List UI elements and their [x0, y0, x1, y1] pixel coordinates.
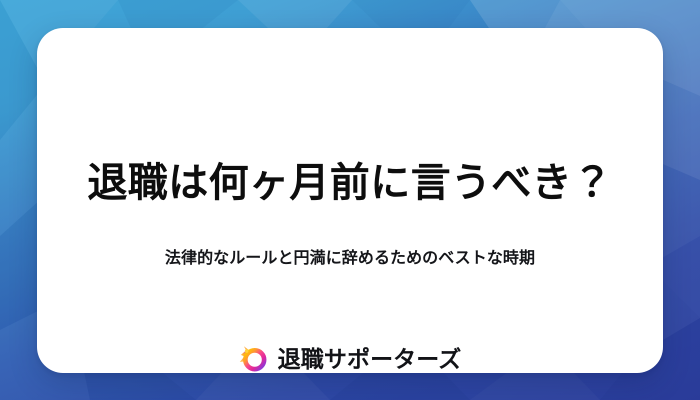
brand-name: 退職サポーターズ [278, 348, 462, 371]
content-card: 退職は何ヶ月前に言うべき？ 法律的なルールと円満に辞めるためのベストな時期 [37, 28, 663, 373]
gradient-ring-sparkle-icon [239, 344, 269, 374]
page-title: 退職は何ヶ月前に言うべき？ [37, 160, 663, 207]
page-subtitle: 法律的なルールと円満に辞めるためのベストな時期 [37, 247, 663, 271]
og-banner: 退職は何ヶ月前に言うべき？ 法律的なルールと円満に辞めるためのベストな時期 [0, 0, 700, 400]
brand-logo: 退職サポーターズ [37, 344, 663, 374]
